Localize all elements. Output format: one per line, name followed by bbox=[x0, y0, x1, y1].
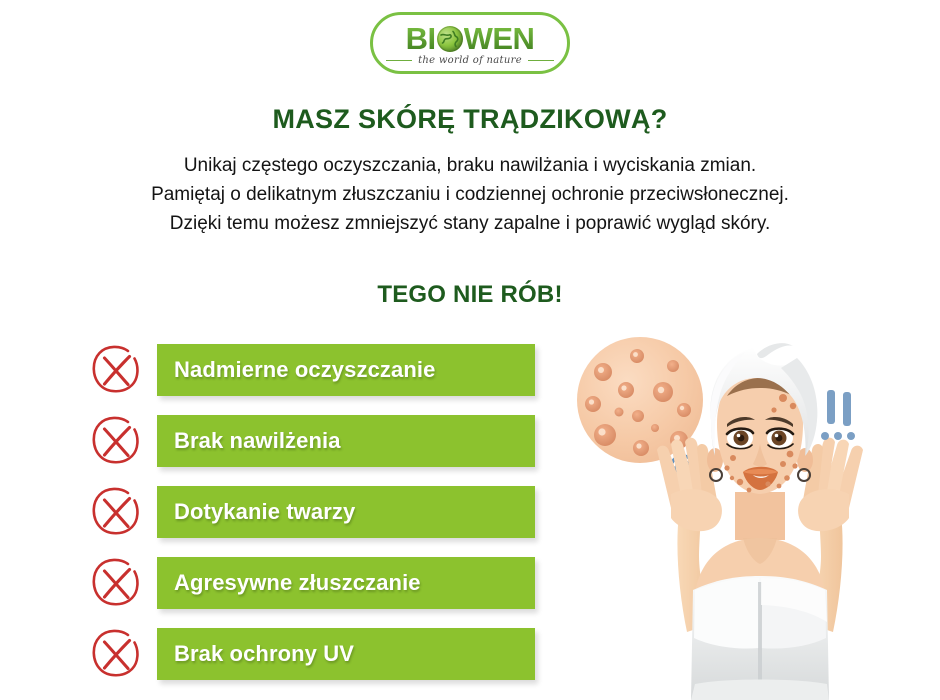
list-item-label: Dotykanie twarzy bbox=[157, 499, 355, 525]
list-item-bar: Nadmierne oczyszczanie bbox=[157, 344, 535, 396]
list-item: Brak ochrony UV bbox=[88, 628, 538, 680]
infographic-page: BI WEN the world of nature MASZ SKÓRĘ TR… bbox=[0, 0, 940, 700]
tagline-rule-right bbox=[528, 60, 554, 61]
tagline-rule-left bbox=[386, 60, 412, 61]
list-item-label: Nadmierne oczyszczanie bbox=[157, 357, 435, 383]
logo-wordmark: BI WEN bbox=[406, 23, 535, 54]
list-item-label: Agresywne złuszczanie bbox=[157, 570, 421, 596]
logo-word-part2: WEN bbox=[464, 23, 535, 54]
section-subtitle: TEGO NIE RÓB! bbox=[0, 281, 940, 309]
logo-word-part1: BI bbox=[406, 23, 436, 54]
red-x-circle-icon bbox=[88, 484, 144, 540]
woman-with-acne-illustration bbox=[575, 332, 940, 700]
red-x-circle-icon bbox=[88, 342, 144, 398]
logo-tagline: the world of nature bbox=[418, 55, 522, 66]
magnified-acne-skin-circle bbox=[577, 337, 703, 463]
list-item-bar: Brak ochrony UV bbox=[157, 628, 535, 680]
list-item-bar: Agresywne złuszczanie bbox=[157, 557, 535, 609]
list-item-label: Brak nawilżenia bbox=[157, 428, 341, 454]
dont-do-list: Nadmierne oczyszczanie Brak nawilżenia bbox=[88, 344, 538, 684]
exclamation-marks bbox=[821, 390, 855, 440]
brand-logo: BI WEN the world of nature bbox=[370, 12, 570, 74]
body-copy: Unikaj częstego oczyszczania, braku nawi… bbox=[0, 151, 940, 238]
logo-inner: BI WEN the world of nature bbox=[370, 12, 570, 74]
globe-icon bbox=[437, 26, 463, 52]
list-item: Nadmierne oczyszczanie bbox=[88, 344, 538, 396]
list-item: Dotykanie twarzy bbox=[88, 486, 538, 538]
list-item-label: Brak ochrony UV bbox=[157, 641, 354, 667]
list-item-bar: Dotykanie twarzy bbox=[157, 486, 535, 538]
red-x-circle-icon bbox=[88, 413, 144, 469]
list-item-bar: Brak nawilżenia bbox=[157, 415, 535, 467]
list-item: Brak nawilżenia bbox=[88, 415, 538, 467]
body-line-1: Unikaj częstego oczyszczania, braku nawi… bbox=[0, 151, 940, 180]
red-x-circle-icon bbox=[88, 626, 144, 682]
body-line-3: Dzięki temu możesz zmniejszyć stany zapa… bbox=[0, 209, 940, 238]
body-line-2: Pamiętaj o delikatnym złuszczaniu i codz… bbox=[0, 180, 940, 209]
red-x-circle-icon bbox=[88, 555, 144, 611]
page-title: MASZ SKÓRĘ TRĄDZIKOWĄ? bbox=[0, 104, 940, 135]
logo-tagline-row: the world of nature bbox=[370, 55, 570, 66]
body-towel bbox=[691, 576, 829, 700]
list-item: Agresywne złuszczanie bbox=[88, 557, 538, 609]
